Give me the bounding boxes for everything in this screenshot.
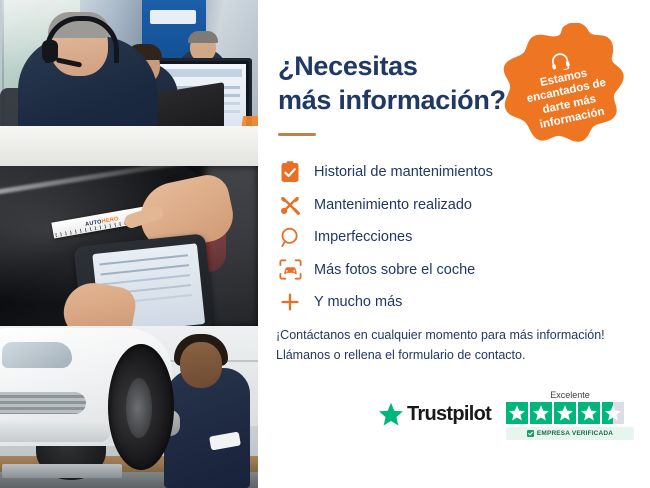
ruler-brand-part2: HERO (101, 216, 119, 225)
call-center-agents-photo (0, 0, 258, 166)
promo-badge: Estamos encantados de darte más informac… (501, 23, 631, 155)
trustpilot-star-row (506, 402, 634, 424)
star-half-5 (602, 402, 624, 424)
trustpilot-rating[interactable]: Excelente (506, 390, 634, 440)
ruler-brand-part1: AUTO (85, 219, 102, 228)
mechanic-logo-badge-decor (209, 432, 241, 451)
car-lift-decor (2, 464, 122, 478)
verified-check-icon (527, 430, 534, 437)
tools-crossed-icon (275, 194, 305, 216)
page-title: ¿Necesitas más información? (278, 50, 518, 118)
star-filled-2 (530, 402, 552, 424)
car-photo-frame-icon (275, 259, 305, 280)
feature-label: Y mucho más (314, 294, 402, 310)
star-filled-3 (554, 402, 576, 424)
workshop-mechanic-photo (0, 326, 258, 488)
headlight-decor (2, 342, 72, 368)
page-title-line1: ¿Necesitas (278, 50, 518, 84)
feature-item-imperfecciones: Imperfecciones (275, 221, 631, 254)
grille-decor (0, 392, 86, 414)
feature-item-historial: Historial de mantenimientos (275, 156, 631, 189)
bumper-decor (0, 420, 110, 442)
magnifier-icon (275, 227, 305, 248)
car-inspection-photo: AUTOHERO (0, 166, 258, 326)
trustpilot-star-icon (378, 402, 404, 427)
person-far-hair-decor (188, 31, 218, 43)
photo-column: AUTOHERO (0, 0, 258, 488)
feature-label: Más fotos sobre el coche (314, 262, 475, 278)
contact-paragraph: ¡Contáctanos en cualquier momento para m… (276, 325, 636, 366)
contact-line1: ¡Contáctanos en cualquier momento para m… (276, 325, 636, 345)
content-panel: Estamos encantados de darte más informac… (258, 0, 650, 488)
title-underline-rule (278, 133, 316, 136)
page-title-line2: más información? (278, 84, 518, 118)
feature-label: Historial de mantenimientos (314, 164, 493, 180)
feature-label: Imperfecciones (314, 229, 412, 245)
trustpilot-rating-label: Excelente (506, 390, 634, 400)
promo-banner: AUTOHERO (0, 0, 650, 488)
clipboard-check-icon (275, 161, 305, 183)
mechanic-head-decor (180, 342, 222, 388)
verified-company-label: EMPRESA VERIFICADA (537, 430, 613, 437)
headset-icon (548, 51, 571, 73)
feature-label: Mantenimiento realizado (314, 197, 472, 213)
wheel-rim-decor (126, 378, 152, 438)
star-filled-4 (578, 402, 600, 424)
badge-text: Estamos encantados de darte más informac… (512, 61, 625, 136)
contact-line2: Llámanos o rellena el formulario de cont… (276, 345, 636, 365)
front-wheel-decor (108, 344, 174, 470)
desk-surface-decor (0, 126, 258, 166)
feature-item-mantenimiento: Mantenimiento realizado (275, 189, 631, 222)
trustpilot-wordmark: Trustpilot (407, 403, 491, 426)
verified-company-badge: EMPRESA VERIFICADA (506, 427, 634, 440)
star-filled-1 (506, 402, 528, 424)
plus-icon (275, 292, 305, 312)
feature-list: Historial de mantenimientos M (275, 156, 631, 319)
trustpilot-logo[interactable]: Trustpilot (378, 402, 491, 427)
feature-item-mucho-mas: Y mucho más (275, 286, 631, 319)
trustpilot-widget[interactable]: Trustpilot Excelente (378, 390, 634, 448)
feature-item-mas-fotos: Más fotos sobre el coche (275, 254, 631, 287)
